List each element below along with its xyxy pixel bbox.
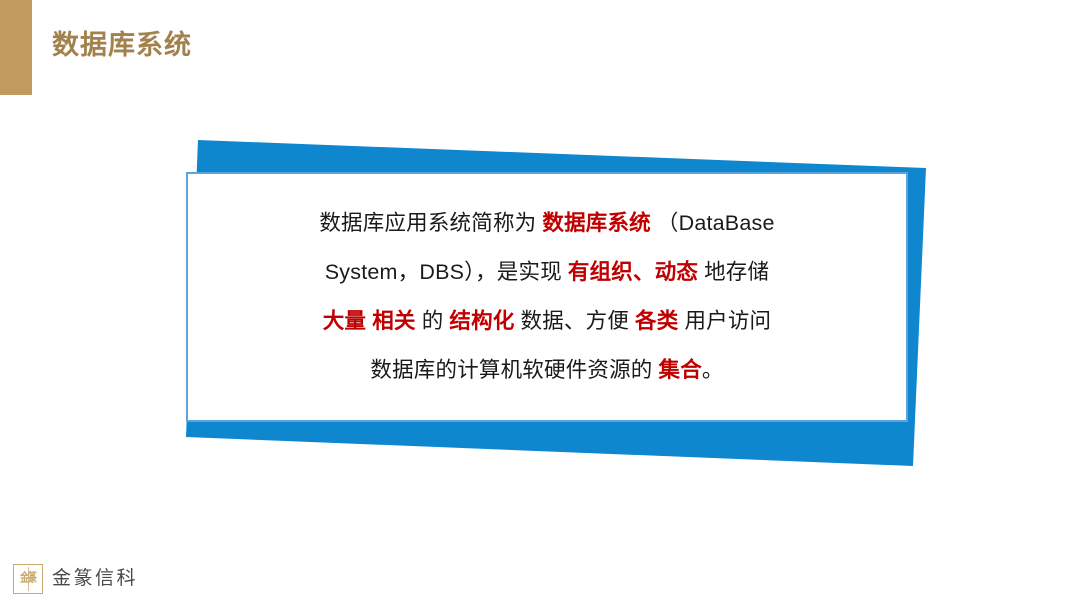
line4-seg3: 。 [702, 358, 724, 382]
line3-seg1-highlight: 大量 相关 [323, 309, 416, 333]
company-name: 金篆信科 [52, 564, 138, 594]
line2-seg1: System，DBS），是实现 [325, 260, 562, 284]
line3-seg6: 用户访问 [684, 309, 771, 333]
header-accent-bar [0, 0, 32, 95]
line4-seg1: 数据库的计算机软硬件资源的 [370, 358, 652, 382]
page-title: 数据库系统 [52, 25, 192, 65]
paragraph-line-2: System，DBS），是实现有组织、动态地存储 [325, 248, 769, 297]
line3-seg2: 的 [422, 309, 444, 333]
line1-seg1: 数据库应用系统简称为 [319, 211, 536, 235]
line1-seg3: （DataBase [657, 211, 775, 235]
seal-glyphs: 金篆 [20, 573, 36, 585]
content-card: 数据库应用系统简称为数据库系统（DataBase System，DBS），是实现… [186, 172, 908, 422]
line2-seg3: 地存储 [704, 260, 769, 284]
footer-logo: 金篆 金篆信科 [13, 564, 138, 594]
line3-seg5-highlight: 各类 [635, 309, 678, 333]
company-seal-icon: 金篆 [13, 564, 43, 594]
paragraph-line-4: 数据库的计算机软硬件资源的集合。 [370, 346, 723, 395]
paragraph-line-1: 数据库应用系统简称为数据库系统（DataBase [319, 199, 774, 248]
line3-seg4: 数据、方便 [521, 309, 630, 333]
content-body: 数据库应用系统简称为数据库系统（DataBase System，DBS），是实现… [188, 174, 906, 420]
line3-seg3-highlight: 结构化 [449, 309, 514, 333]
line2-seg2-highlight: 有组织、动态 [568, 260, 698, 284]
paragraph-line-3: 大量 相关的结构化数据、方便各类用户访问 [323, 297, 772, 346]
line1-seg2-highlight: 数据库系统 [542, 211, 651, 235]
slide-canvas: 数据库系统 数据库应用系统简称为数据库系统（DataBase System，DB… [0, 0, 1080, 608]
line4-seg2-highlight: 集合 [659, 358, 702, 382]
